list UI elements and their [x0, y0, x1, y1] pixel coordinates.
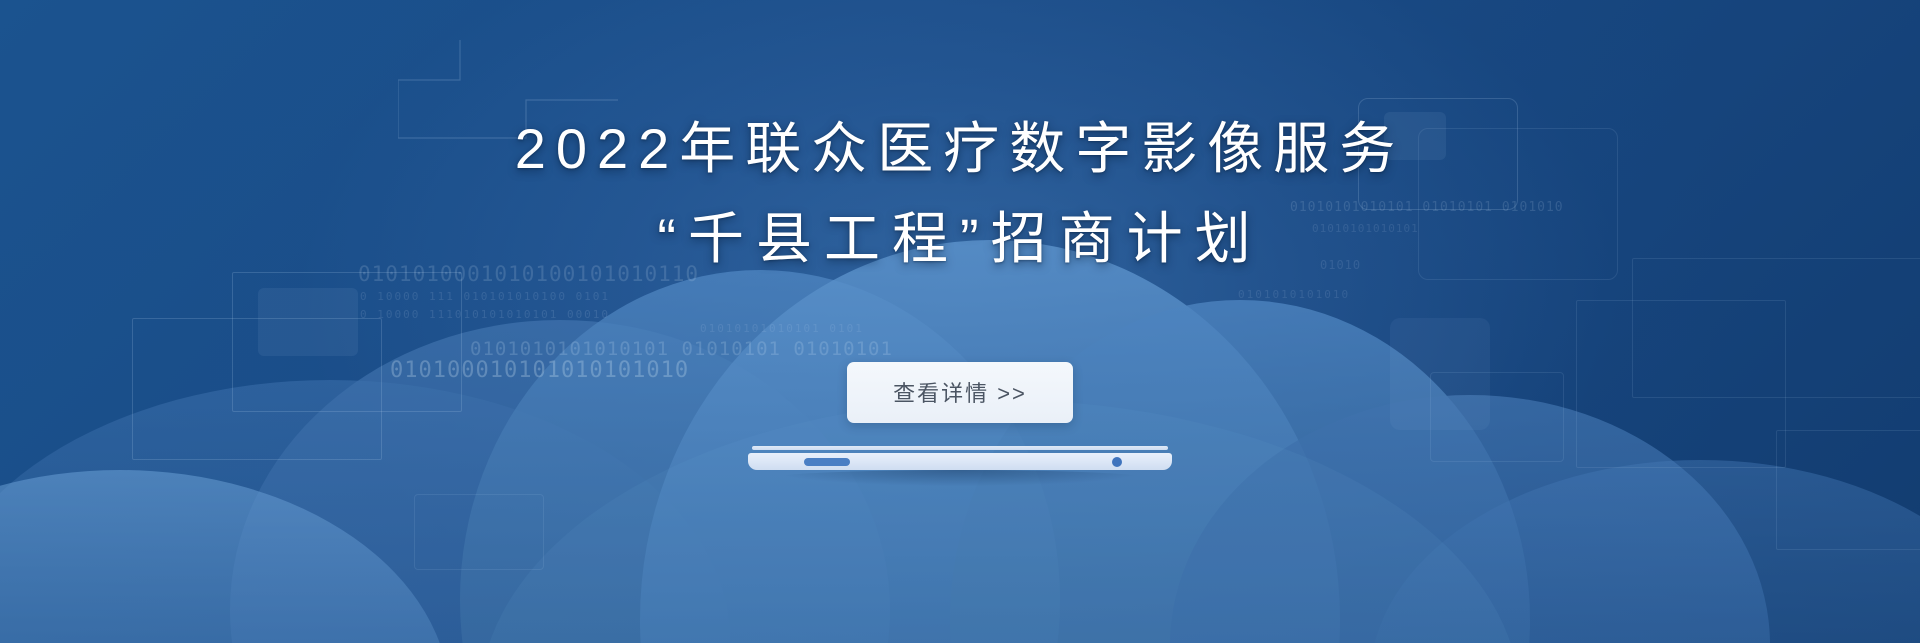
title-line-secondary: “千县工程”招商计划 — [0, 194, 1920, 284]
laptop-illustration — [748, 446, 1172, 480]
promo-banner: 0101010001010100101010110 0 10000 111 01… — [0, 0, 1920, 643]
indicator-pill-icon — [804, 458, 850, 466]
title-line-primary: 2022年联众医疗数字影像服务 — [0, 104, 1920, 194]
banner-content: 2022年联众医疗数字影像服务 “千县工程”招商计划 查看详情 >> — [0, 0, 1920, 643]
view-details-button[interactable]: 查看详情 >> — [847, 362, 1073, 423]
device-hinge — [752, 446, 1168, 450]
banner-title: 2022年联众医疗数字影像服务 “千县工程”招商计划 — [0, 104, 1920, 284]
device-shadow — [774, 470, 1146, 486]
camera-dot-icon — [1112, 457, 1122, 467]
cta-container: 查看详情 >> — [0, 362, 1920, 423]
